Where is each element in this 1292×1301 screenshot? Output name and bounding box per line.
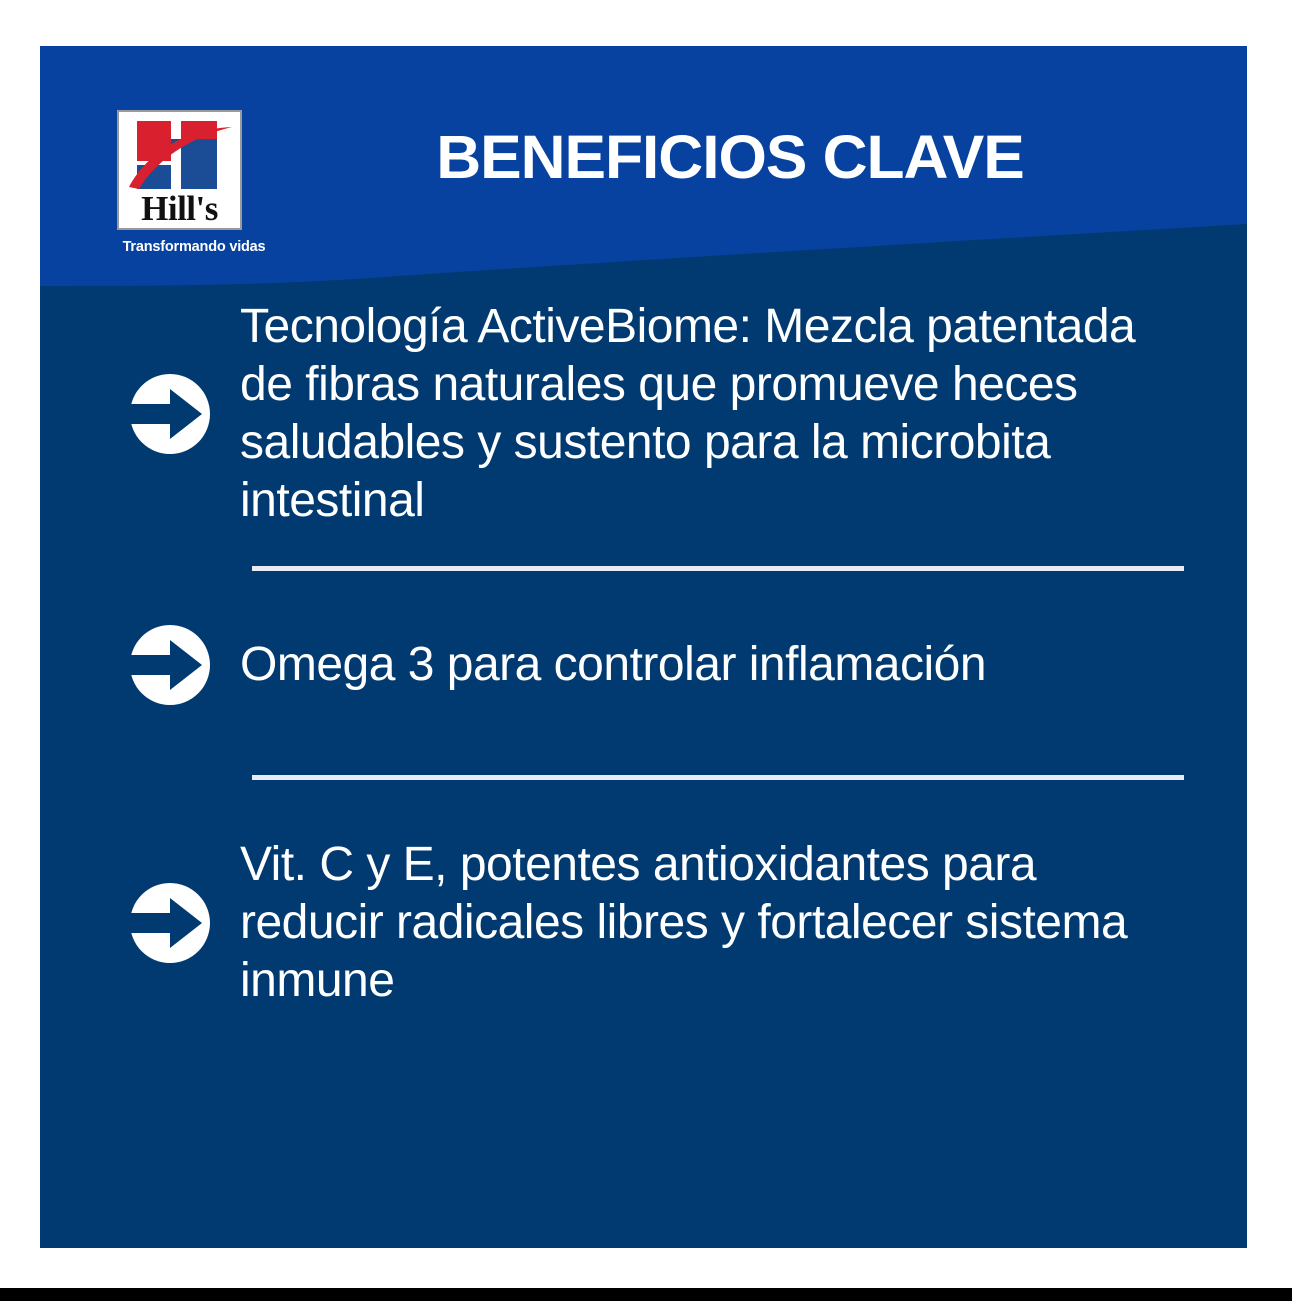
benefits-list: Tecnología ActiveBiome: Mezcla patentada… — [40, 294, 1247, 1010]
logo-wordmark: Hill's — [119, 192, 240, 226]
logo-tagline: Transformando vidas — [109, 239, 279, 255]
benefit-divider-1 — [252, 566, 1184, 571]
arrow-right-circle-icon — [126, 881, 210, 965]
hills-h-mark-icon — [129, 119, 234, 191]
benefits-card: Hill's Transformando vidas BENEFICIOS CL… — [40, 46, 1247, 1248]
page-title: BENEFICIOS CLAVE — [322, 124, 1138, 190]
benefit-divider-2 — [252, 775, 1184, 780]
brand-logo: Hill's Transformando vidas — [109, 110, 289, 255]
bottom-bar — [0, 1288, 1292, 1301]
benefit-item-3: Vit. C y E, potentes antioxidantes para … — [40, 836, 1247, 1010]
arrow-right-circle-icon — [126, 623, 210, 707]
logo-box: Hill's — [117, 110, 242, 230]
benefit-item-2: Omega 3 para controlar inflamación — [40, 623, 1247, 707]
benefit-item-1: Tecnología ActiveBiome: Mezcla patentada… — [40, 298, 1247, 530]
arrow-right-circle-icon — [126, 372, 210, 456]
benefit-text: Omega 3 para controlar inflamación — [240, 636, 986, 694]
benefit-text: Vit. C y E, potentes antioxidantes para … — [240, 836, 1190, 1010]
benefit-text: Tecnología ActiveBiome: Mezcla patentada… — [240, 298, 1190, 530]
